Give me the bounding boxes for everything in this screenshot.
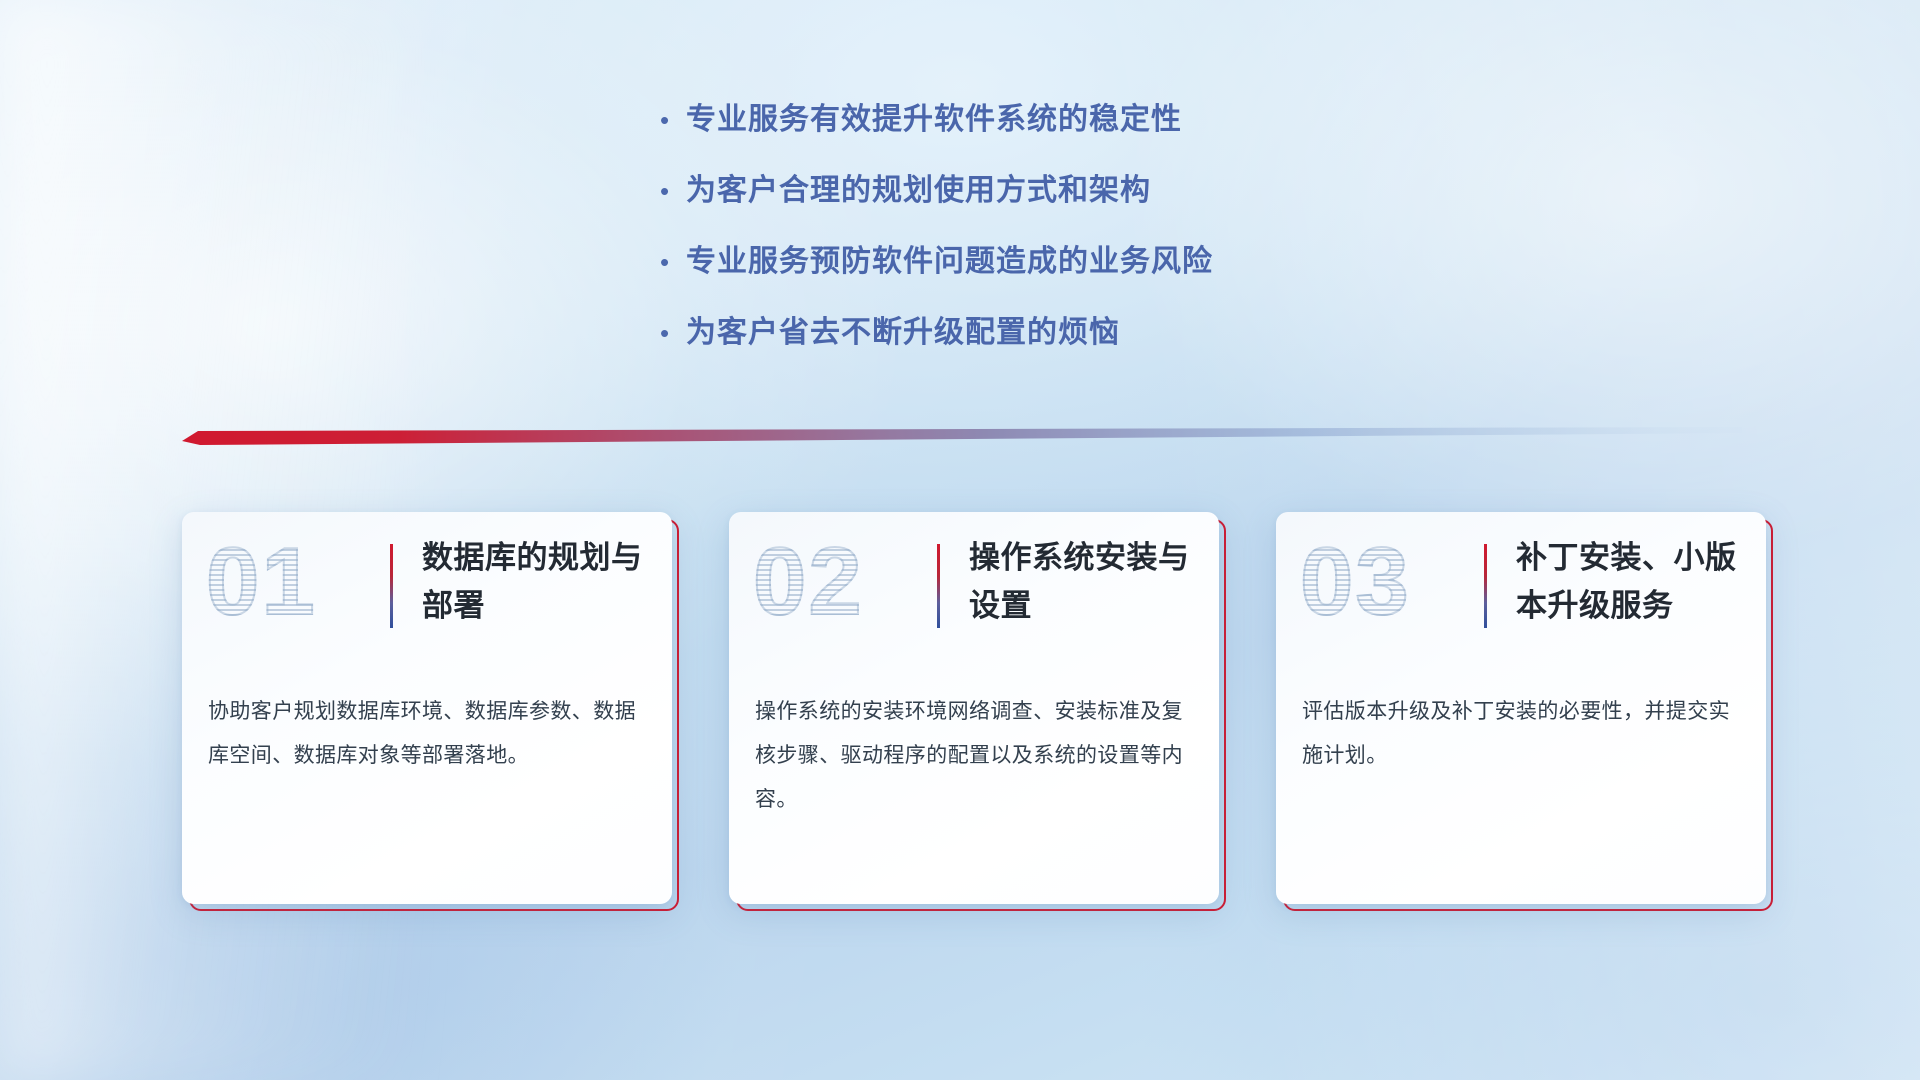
card-divider-rule	[1484, 544, 1487, 628]
bullet-dot-icon: •	[660, 311, 686, 355]
bullet-text: 为客户合理的规划使用方式和架构	[686, 169, 1151, 213]
bullet-text: 为客户省去不断升级配置的烦恼	[686, 311, 1120, 355]
bullet-text: 专业服务有效提升软件系统的稳定性	[686, 98, 1182, 142]
bullet-dot-icon: •	[660, 240, 686, 284]
card-number: 01	[206, 534, 317, 630]
divider-wedge-icon	[182, 424, 1742, 450]
list-item: • 专业服务有效提升软件系统的稳定性	[660, 98, 1213, 142]
list-item: • 专业服务预防软件问题造成的业务风险	[660, 240, 1213, 284]
card-divider-rule	[937, 544, 940, 628]
card-header: 01 数据库的规划与部署	[182, 512, 672, 670]
list-item: • 为客户省去不断升级配置的烦恼	[660, 311, 1213, 355]
bullet-dot-icon: •	[660, 169, 686, 213]
card-surface: 01 数据库的规划与部署 协助客户规划数据库环境、数据库参数、数据库空间、数据库…	[182, 512, 672, 904]
card-number: 03	[1300, 534, 1411, 630]
card-title: 操作系统安装与设置	[969, 534, 1209, 630]
service-card-02[interactable]: 02 操作系统安装与设置 操作系统的安装环境网络调查、安装标准及复核步骤、驱动程…	[729, 512, 1219, 904]
card-title: 数据库的规划与部署	[422, 534, 662, 630]
list-item: • 为客户合理的规划使用方式和架构	[660, 169, 1213, 213]
card-header: 02 操作系统安装与设置	[729, 512, 1219, 670]
benefits-bullet-list: • 专业服务有效提升软件系统的稳定性 • 为客户合理的规划使用方式和架构 • 专…	[660, 98, 1213, 355]
service-card-03[interactable]: 03 补丁安装、小版本升级服务 评估版本升级及补丁安装的必要性，并提交实施计划。	[1276, 512, 1766, 904]
card-body-text: 操作系统的安装环境网络调查、安装标准及复核步骤、驱动程序的配置以及系统的设置等内…	[755, 690, 1195, 822]
card-body-text: 评估版本升级及补丁安装的必要性，并提交实施计划。	[1302, 690, 1742, 778]
bullet-text: 专业服务预防软件问题造成的业务风险	[686, 240, 1213, 284]
card-surface: 03 补丁安装、小版本升级服务 评估版本升级及补丁安装的必要性，并提交实施计划。	[1276, 512, 1766, 904]
section-divider	[182, 424, 1742, 450]
bullet-dot-icon: •	[660, 98, 686, 142]
service-card-01[interactable]: 01 数据库的规划与部署 协助客户规划数据库环境、数据库参数、数据库空间、数据库…	[182, 512, 672, 904]
card-surface: 02 操作系统安装与设置 操作系统的安装环境网络调查、安装标准及复核步骤、驱动程…	[729, 512, 1219, 904]
card-divider-rule	[390, 544, 393, 628]
service-card-row: 01 数据库的规划与部署 协助客户规划数据库环境、数据库参数、数据库空间、数据库…	[182, 512, 1766, 904]
card-body-text: 协助客户规划数据库环境、数据库参数、数据库空间、数据库对象等部署落地。	[208, 690, 648, 778]
card-number: 02	[753, 534, 864, 630]
card-header: 03 补丁安装、小版本升级服务	[1276, 512, 1766, 670]
card-title: 补丁安装、小版本升级服务	[1516, 534, 1756, 630]
